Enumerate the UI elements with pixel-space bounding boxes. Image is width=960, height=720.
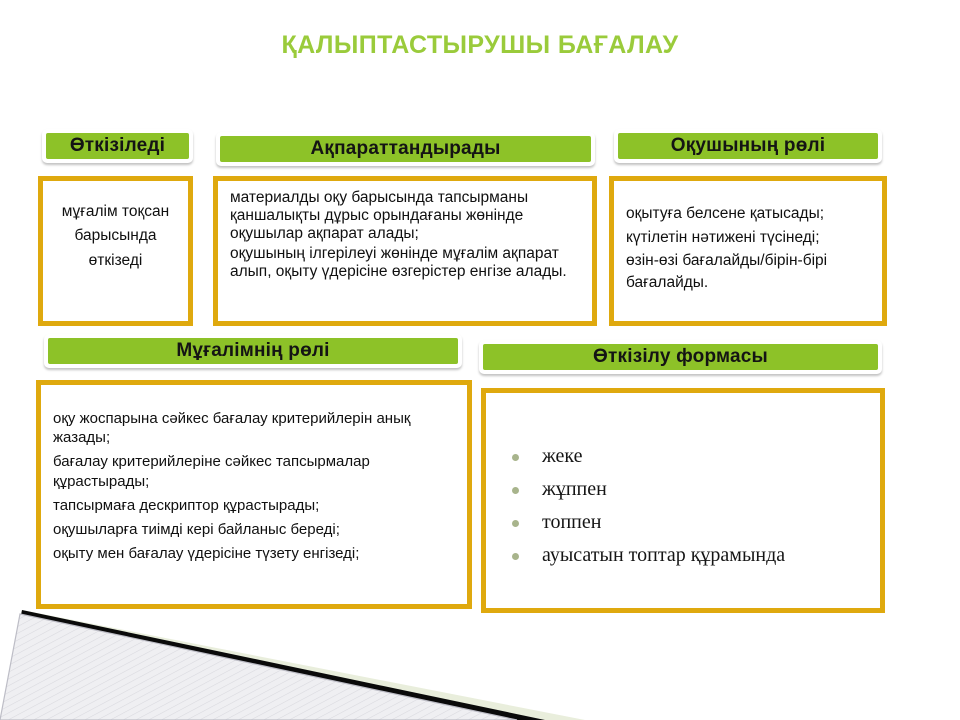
header-bar: Оқушының рөлі xyxy=(618,133,878,159)
corner-decoration xyxy=(0,588,620,720)
header-label: Мұғалімнің рөлі xyxy=(176,340,329,362)
page-title: ҚАЛЫПТАСТЫРУШЫ БАҒАЛАУ xyxy=(0,31,960,60)
card-paragraph: оқыту мен бағалау үдерісіне түзету енгіз… xyxy=(53,544,455,563)
card-paragraph: күтілетін нәтижені түсінеді; xyxy=(626,227,870,249)
list-item: жеке xyxy=(508,446,880,467)
card-paragraph: оқушының ілгерілеуі жөнінде мұғалім ақпа… xyxy=(230,245,580,281)
card-header-mugalimnin-roli: Мұғалімнің рөлі xyxy=(44,334,462,368)
card-text: оқу жоспарына сәйкес бағалау критерийлер… xyxy=(41,385,467,576)
card-body-oqushynyn-roli: оқытуға белсене қатысады; күтілетін нәти… xyxy=(609,176,887,326)
card-line: өткізеді xyxy=(55,250,176,272)
list-item: ауысатын топтар құрамында xyxy=(508,545,880,566)
header-bar: Ақпараттандырады xyxy=(220,136,591,162)
card-body-otkiziledi: мұғалім тоқсан барысында өткізеді xyxy=(38,176,193,326)
header-label: Ақпараттандырады xyxy=(310,138,500,160)
list-item: жұппен xyxy=(508,479,880,500)
card-header-otkizilu-formasy: Өткізілу формасы xyxy=(479,340,882,374)
card-paragraph: өзін-өзі бағалайды/бірін-бірі бағалайды. xyxy=(626,250,870,293)
header-label: Өткізілу формасы xyxy=(593,346,768,368)
card-text: мұғалім тоқсан барысында өткізеді xyxy=(43,181,188,282)
slide-canvas: ҚАЛЫПТАСТЫРУШЫ БАҒАЛАУ Өткізіледі мұғалі… xyxy=(0,0,960,720)
card-paragraph: бағалау критерийлеріне сәйкес тапсырмала… xyxy=(53,452,455,490)
list-item: топпен xyxy=(508,512,880,533)
card-paragraph: оқытуға белсене қатысады; xyxy=(626,203,870,225)
header-label: Оқушының рөлі xyxy=(671,135,826,157)
bullet-list: жеке жұппен топпен ауысатын топтар құрам… xyxy=(486,393,880,566)
header-bar: Мұғалімнің рөлі xyxy=(48,338,458,364)
card-paragraph: оқушыларға тиімді кері байланыс береді; xyxy=(53,520,455,539)
card-line: мұғалім тоқсан xyxy=(55,201,176,223)
header-bar: Өткізіледі xyxy=(46,133,189,159)
card-paragraph: тапсырмаға дескриптор құрастырады; xyxy=(53,496,455,515)
card-text: материалды оқу барысында тапсырманы қанш… xyxy=(218,181,592,291)
card-text: оқытуға белсене қатысады; күтілетін нәти… xyxy=(614,181,882,304)
header-bar: Өткізілу формасы xyxy=(483,344,878,370)
card-header-aqparattandyrady: Ақпараттандырады xyxy=(216,132,595,166)
card-paragraph: материалды оқу барысында тапсырманы қанш… xyxy=(230,189,580,243)
card-body-mugalimnin-roli: оқу жоспарына сәйкес бағалау критерийлер… xyxy=(36,380,472,609)
card-header-oqushynyn-roli: Оқушының рөлі xyxy=(614,129,882,163)
card-body-aqparattandyrady: материалды оқу барысында тапсырманы қанш… xyxy=(213,176,597,326)
card-body-otkizilu-formasy: жеке жұппен топпен ауысатын топтар құрам… xyxy=(481,388,885,613)
card-line: барысында xyxy=(55,225,176,247)
corner-hatch-triangle xyxy=(0,614,517,720)
header-label: Өткізіледі xyxy=(70,135,165,157)
card-paragraph: оқу жоспарына сәйкес бағалау критерийлер… xyxy=(53,409,455,447)
card-header-otkiziledi: Өткізіледі xyxy=(42,129,193,163)
